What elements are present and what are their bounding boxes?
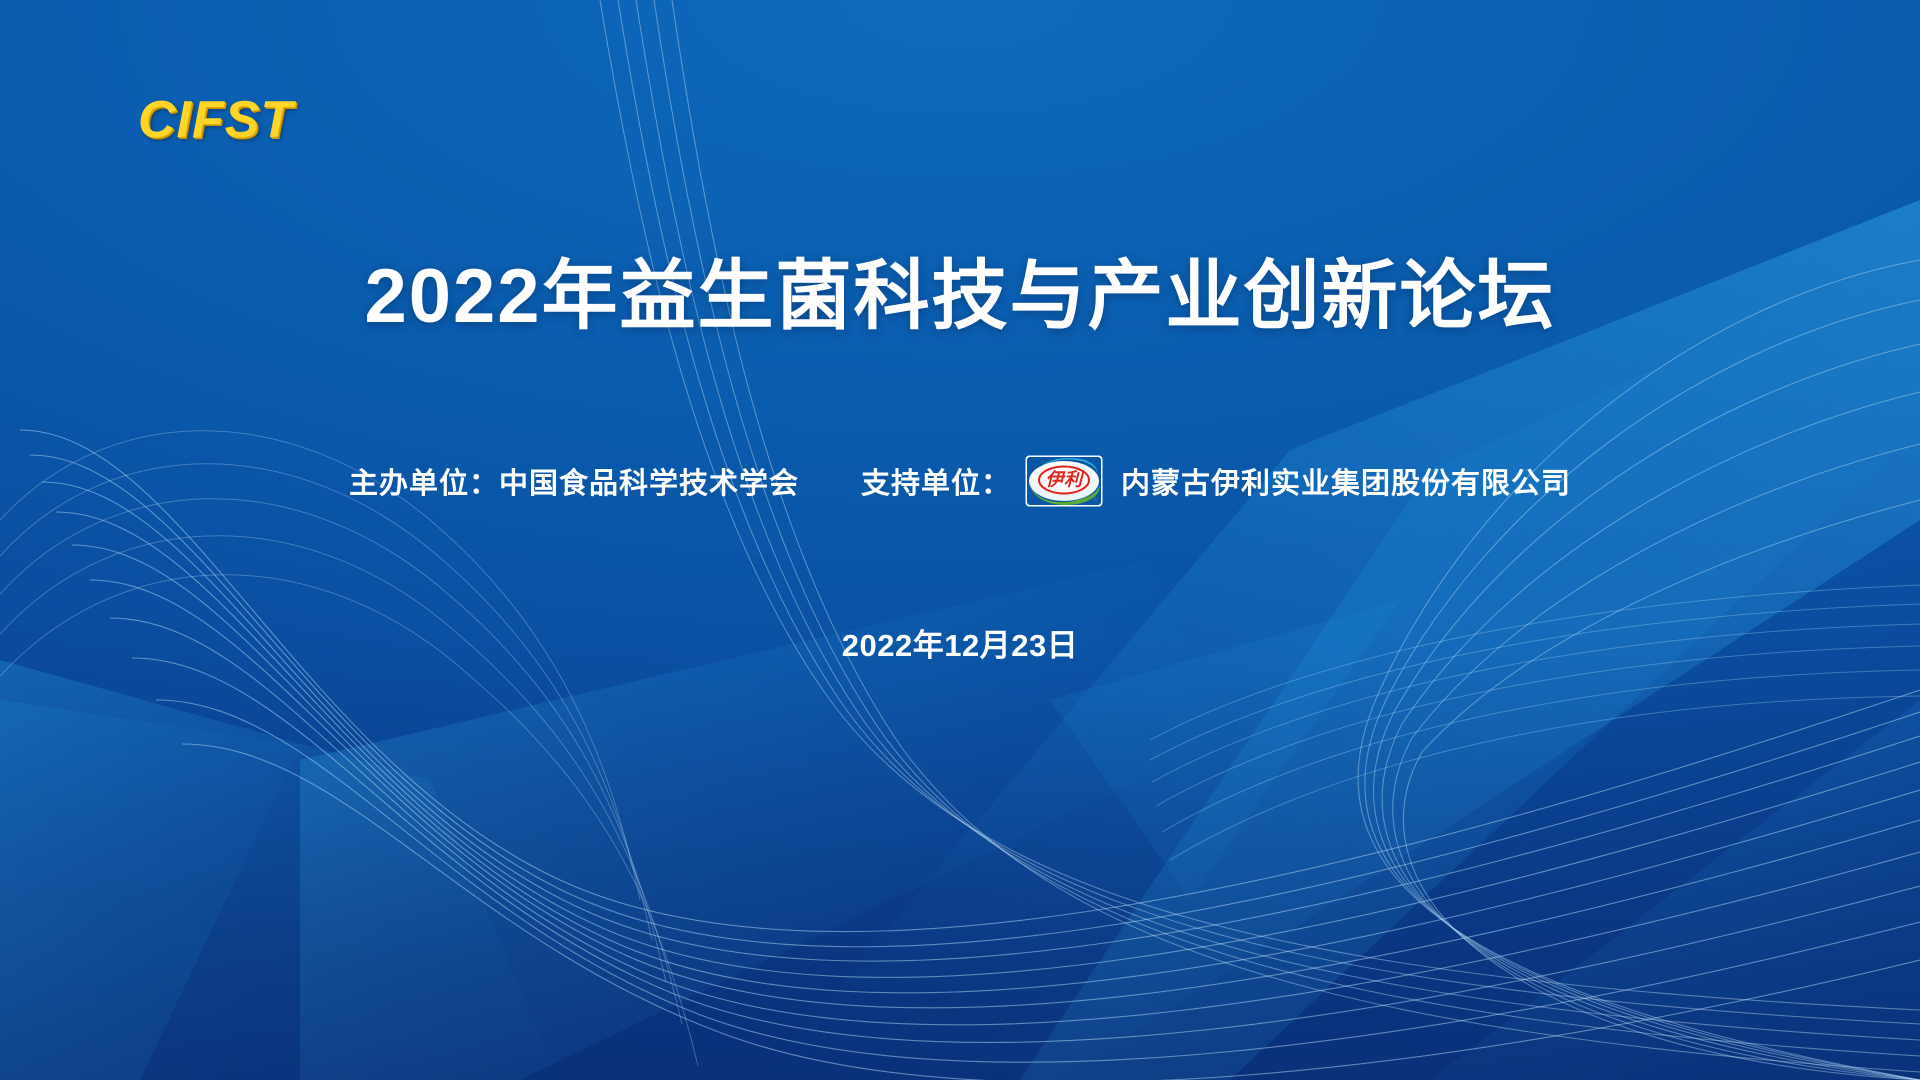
organizer-row: 主办单位： 中国食品科学技术学会 支持单位： — [0, 455, 1920, 507]
event-date: 2022年12月23日 — [0, 620, 1920, 665]
svg-text:伊利: 伊利 — [1046, 470, 1085, 491]
cifst-logo: CIFST — [138, 94, 293, 146]
background-wave-lines — [0, 0, 1920, 1080]
page-title: 2022年益生菌科技与产业创新论坛 — [0, 256, 1920, 338]
event-poster: CIFST 2022年益生菌科技与产业创新论坛 主办单位： 中国食品科学技术学会… — [0, 0, 1920, 1080]
organizer-value: 中国食品科学技术学会 — [499, 460, 799, 502]
organizer-block: 主办单位： 中国食品科学技术学会 — [349, 460, 799, 502]
supporter-value: 内蒙古伊利实业集团股份有限公司 — [1121, 460, 1571, 502]
supporter-block: 支持单位： — [861, 455, 1571, 507]
yili-logo-icon: 伊利 ® — [1025, 455, 1103, 507]
supporter-label: 支持单位： — [861, 460, 1011, 502]
organizer-label: 主办单位： — [349, 460, 499, 502]
svg-text:®: ® — [1093, 495, 1098, 503]
